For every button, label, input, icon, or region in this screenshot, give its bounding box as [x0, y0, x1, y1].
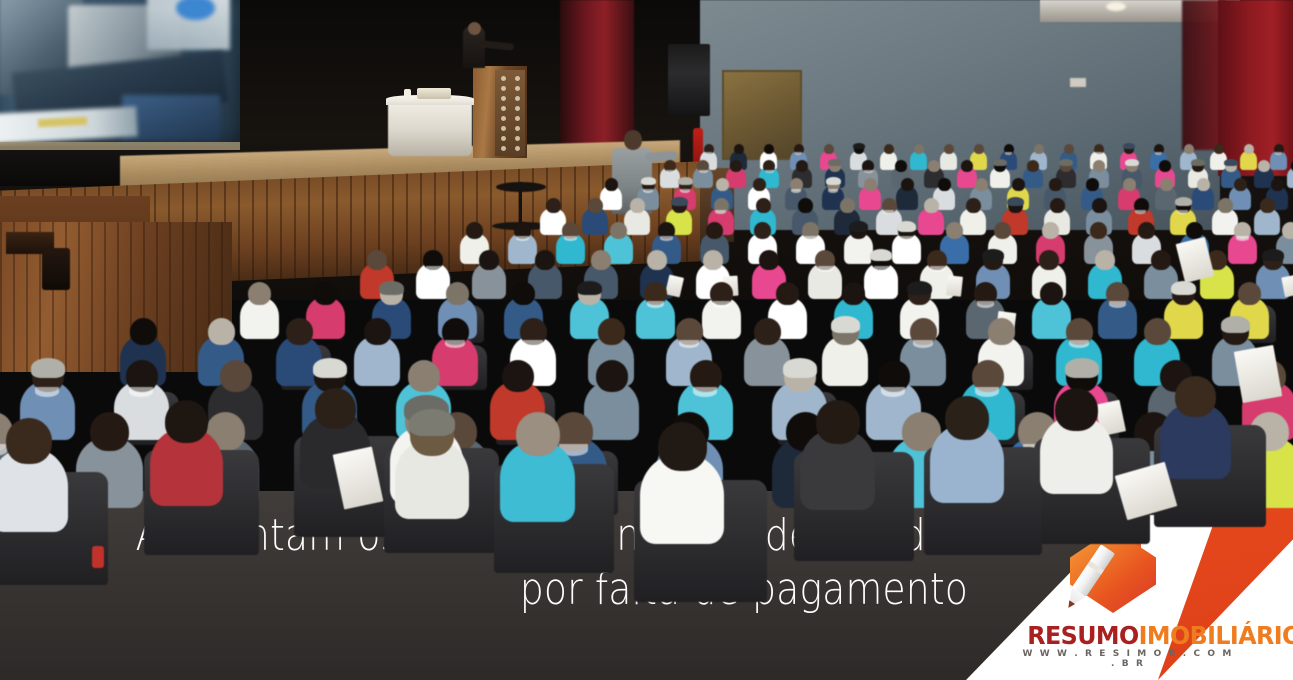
wall-fixture [1070, 78, 1086, 87]
audience-member-head [842, 282, 865, 305]
audience-member-head [1234, 178, 1247, 191]
podium-face [495, 70, 525, 156]
logo-word-resumo: RESUMO [1027, 621, 1138, 650]
audience-member-head [248, 282, 271, 305]
draped-table [388, 98, 472, 156]
podium-detail [501, 76, 506, 81]
audience [0, 150, 1293, 510]
audience-member-head [1090, 222, 1107, 239]
audience-member-head [1271, 178, 1284, 191]
audience-cap [641, 177, 656, 185]
audience-member-head [924, 198, 939, 213]
podium-detail [501, 116, 506, 121]
audience-member-head [1039, 250, 1059, 270]
audience-member-head [314, 282, 337, 305]
auction-catalog-paper [1234, 345, 1282, 403]
audience-member-head [512, 282, 535, 305]
audience-member-head [1151, 250, 1171, 270]
audience-member-head [1138, 222, 1155, 239]
audience-member-head [944, 144, 954, 154]
audience-cap [678, 177, 693, 185]
logo[interactable]: RESUMOIMOBILIÁRIO W W W . R E S I M O B … [1022, 535, 1234, 663]
audience-member-head [546, 198, 561, 213]
audience-collar [828, 189, 838, 193]
audience-cap [826, 177, 841, 185]
audience-member-head [1092, 198, 1107, 213]
audience-collar [804, 236, 817, 241]
audience-collar [913, 340, 933, 348]
audience-collar [977, 301, 994, 308]
audience-member-head [1186, 222, 1203, 239]
audience-cap [897, 221, 916, 232]
audience-member-head [706, 222, 723, 239]
audience-member-head [1159, 160, 1171, 172]
audience-collar [1069, 340, 1089, 348]
audience-member-head [502, 360, 534, 392]
audience-member-head [1123, 178, 1136, 191]
audience-member-head [1064, 144, 1074, 154]
audience-cap [409, 409, 455, 436]
audience-cap [1262, 249, 1284, 261]
audience-collar [864, 170, 873, 173]
audience-member-head [776, 282, 799, 305]
audience-collar [680, 189, 690, 193]
audience-member-head [816, 400, 860, 444]
audience-cap [982, 249, 1004, 261]
audience-cap [1191, 159, 1205, 166]
logo-wordmark: RESUMOIMOBILIÁRIO [1027, 621, 1228, 650]
audience-member-head [658, 422, 707, 471]
audience-collar [516, 236, 529, 241]
projection-screen [0, 0, 240, 146]
audience-member-head [703, 250, 723, 270]
audience-collar [1275, 152, 1282, 155]
audience-collar [679, 340, 699, 348]
audience-member-head [1012, 178, 1025, 191]
audience-member-head [754, 318, 781, 345]
audience-cap [1224, 159, 1238, 166]
audience-member-head [479, 250, 499, 270]
audience-member-head [1160, 178, 1173, 191]
audience-member-head [1086, 178, 1099, 191]
audience-member-head [1282, 222, 1293, 239]
audience-collar [1236, 236, 1249, 241]
audience-collar [975, 387, 999, 397]
audience-member-head [1095, 250, 1115, 270]
audience-collar [1135, 210, 1146, 214]
audience-member-head [975, 178, 988, 191]
audience-member-head [596, 360, 628, 392]
audience-member-head [1027, 160, 1039, 172]
audience-collar [699, 170, 708, 173]
audience-cap [1059, 159, 1073, 166]
audience-cap [379, 281, 404, 295]
audience-member-head [1175, 376, 1216, 417]
audience-member-head [1050, 198, 1065, 213]
audience-collar [765, 170, 774, 173]
audience-member-head [165, 400, 208, 443]
audience-collar [666, 170, 675, 173]
wall-speaker [668, 44, 710, 116]
podium-detail [501, 136, 506, 141]
audience-member-head [961, 160, 973, 172]
audience-cap [1007, 197, 1024, 206]
audience-collar [930, 266, 945, 272]
audience-collar [643, 189, 653, 193]
audience-member-head [734, 144, 744, 154]
audience-collar [791, 189, 801, 193]
audience-member-head [610, 222, 627, 239]
audience-member-head [1258, 160, 1270, 172]
podium-detail [501, 86, 506, 91]
audience-member-head [974, 144, 984, 154]
audience-member-head [754, 222, 771, 239]
audience-member-head [516, 412, 560, 456]
podium-detail [515, 136, 520, 141]
standing-attendant-head [624, 130, 642, 150]
audience-collar [660, 236, 673, 241]
audience-member-head [364, 318, 391, 345]
audience-member-head [1244, 144, 1254, 154]
audience-collar [715, 210, 726, 214]
audience-member-head [759, 250, 779, 270]
audience-member-head [1144, 318, 1171, 345]
podium-detail [515, 86, 520, 91]
ceiling-light [1106, 2, 1126, 11]
audience-member-head [928, 160, 940, 172]
audience-member-head [408, 360, 440, 392]
audience-collar [874, 266, 889, 272]
audience-member-head [946, 222, 963, 239]
audience-collar [713, 301, 730, 308]
audience-member-head [605, 178, 618, 191]
audience-member-head [1260, 198, 1275, 213]
audience-member-head [966, 198, 981, 213]
audience-member-head [367, 250, 387, 270]
audience-member-head [630, 198, 645, 213]
audience-member-head [90, 412, 129, 451]
audience-collar [647, 301, 664, 308]
audience-cap [828, 159, 842, 166]
audience-collar [35, 387, 59, 397]
audience-cap [907, 281, 932, 295]
auction-catalog-paper [946, 275, 963, 296]
audience-member-head [130, 318, 157, 345]
audience-member-head [6, 418, 52, 464]
podium-detail [515, 106, 520, 111]
audience-member-head [756, 198, 771, 213]
audience-member-head [1184, 144, 1194, 154]
audience-member-head [535, 250, 555, 270]
audience-cap [870, 249, 892, 261]
audience-collar [426, 266, 441, 272]
audience-cap [849, 221, 868, 232]
audience-member-head [1034, 144, 1044, 154]
podium-detail [515, 96, 520, 101]
audience-member-head [901, 178, 914, 191]
audience-member-head [988, 318, 1015, 345]
audience-member-head [914, 144, 924, 154]
audience-collar [883, 210, 894, 214]
audience-member-head [764, 144, 774, 154]
auctioneer-head [468, 22, 481, 35]
auction-catalog-paper [665, 275, 684, 298]
podium-detail [501, 96, 506, 101]
audience-collar [795, 152, 802, 155]
audience-collar [1177, 210, 1188, 214]
audience-member-head [591, 250, 611, 270]
podium-detail [501, 106, 506, 111]
audience-member-head [1093, 160, 1105, 172]
audience-collar [1155, 152, 1162, 155]
podium-detail [515, 116, 520, 121]
audience-member-head [1214, 144, 1224, 154]
mobile-phone [92, 546, 104, 568]
audience-cap [783, 358, 817, 378]
audience-cap [31, 358, 65, 378]
audience-cap [1065, 358, 1099, 378]
podium-detail [501, 126, 506, 131]
audience-member-head [1055, 388, 1098, 431]
audience-collar [564, 236, 577, 241]
audience-member-head [895, 160, 907, 172]
audience-member-head [1197, 178, 1210, 191]
audience-collar [1109, 301, 1126, 308]
audience-collar [900, 236, 913, 241]
audience-cap [1221, 316, 1250, 333]
audience-member-head [315, 388, 356, 429]
audience-member-head [864, 178, 877, 191]
audience-collar [818, 266, 833, 272]
audience-collar [1095, 152, 1102, 155]
audience-member-head [753, 178, 766, 191]
audience-cap [1171, 281, 1196, 295]
banner-image: Aumentam os leilões de imóveis devolvido… [0, 0, 1293, 680]
audience-cap [1123, 143, 1135, 149]
audience-collar [445, 340, 465, 348]
audience-cap [831, 316, 860, 333]
audience-member-head [208, 318, 235, 345]
audience-member-head [730, 160, 742, 172]
audience-collar [881, 387, 905, 397]
audience-member-head [796, 160, 808, 172]
audience-cap [1175, 197, 1192, 206]
audience-member-head [945, 396, 989, 440]
laptop-on-table [417, 88, 451, 99]
audience-member-head [588, 198, 603, 213]
audience-member-head [1218, 198, 1233, 213]
podium-detail [515, 126, 520, 131]
audience-cap [853, 143, 865, 149]
audience-member-head [466, 222, 483, 239]
audience-member-head [647, 250, 667, 270]
logo-url: W W W . R E S I M O B . C O M . B R [1022, 649, 1234, 669]
audience-collar [1005, 152, 1012, 155]
audience-collar [523, 340, 543, 348]
audience-member-head [1042, 222, 1059, 239]
audience-member-head [598, 318, 625, 345]
audience-member-head [1049, 178, 1062, 191]
audience-member-head [840, 198, 855, 213]
audience-collar [129, 387, 153, 397]
audience-member-head [220, 360, 252, 392]
audience-collar [693, 387, 717, 397]
audience-member-head [1238, 282, 1261, 305]
audience-member-head [798, 198, 813, 213]
audience-member-head [716, 178, 729, 191]
audience-member-head [446, 282, 469, 305]
cup-on-table [404, 89, 411, 99]
stage-curtain [560, 0, 634, 150]
audience-member-head [994, 222, 1011, 239]
logo-word-imobiliario: IMOBILIÁRIO [1139, 621, 1293, 650]
audience-member-head [1040, 282, 1063, 305]
audience-cap [993, 159, 1007, 166]
audience-member-head [286, 318, 313, 345]
podium-detail [515, 76, 520, 81]
audience-cap [577, 281, 602, 295]
audience-cap [1125, 159, 1139, 166]
audience-member-head [938, 178, 951, 191]
audience-member-head [824, 144, 834, 154]
audience-cap [313, 358, 347, 378]
audience-cap [671, 197, 688, 206]
audience-member-head [884, 144, 894, 154]
audience-collar [705, 152, 712, 155]
